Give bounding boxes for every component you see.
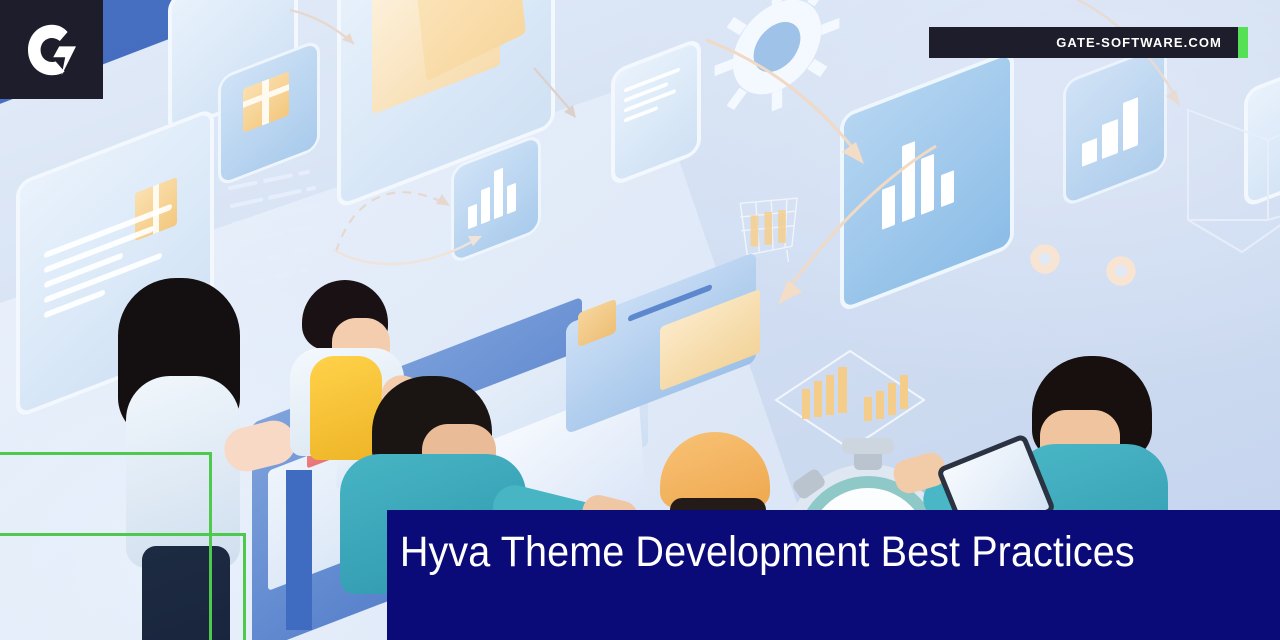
decor-frame-top-line	[0, 452, 212, 455]
page-title: Hyva Theme Development Best Practices	[387, 510, 1135, 574]
arrow-dashed-right	[330, 200, 500, 280]
dotted-lines-cluster	[222, 158, 342, 288]
site-url-badge[interactable]: GATE-SOFTWARE.COM	[929, 27, 1238, 58]
gear-small-icon	[1022, 236, 1068, 282]
decor-frame-vertical-line	[209, 452, 212, 640]
site-url-text: GATE-SOFTWARE.COM	[1056, 35, 1238, 50]
wireframe-shape	[1182, 100, 1280, 280]
hero-banner: GATE-SOFTWARE.COM Hyva Theme Development…	[0, 0, 1280, 640]
gate-software-logo-icon	[22, 20, 82, 80]
brand-logo[interactable]	[0, 0, 103, 99]
decor-frame-second-line	[0, 533, 246, 536]
desk-leg	[286, 470, 312, 630]
gear-small-icon-2	[1098, 248, 1144, 294]
title-banner: Hyva Theme Development Best Practices	[387, 510, 1280, 640]
arrow-left-down	[760, 140, 940, 320]
decor-frame-second-vertical	[243, 533, 246, 640]
arrow-down-left	[288, 6, 368, 56]
arrow-down-right	[530, 64, 600, 126]
site-url-accent-stripe	[1238, 27, 1248, 58]
